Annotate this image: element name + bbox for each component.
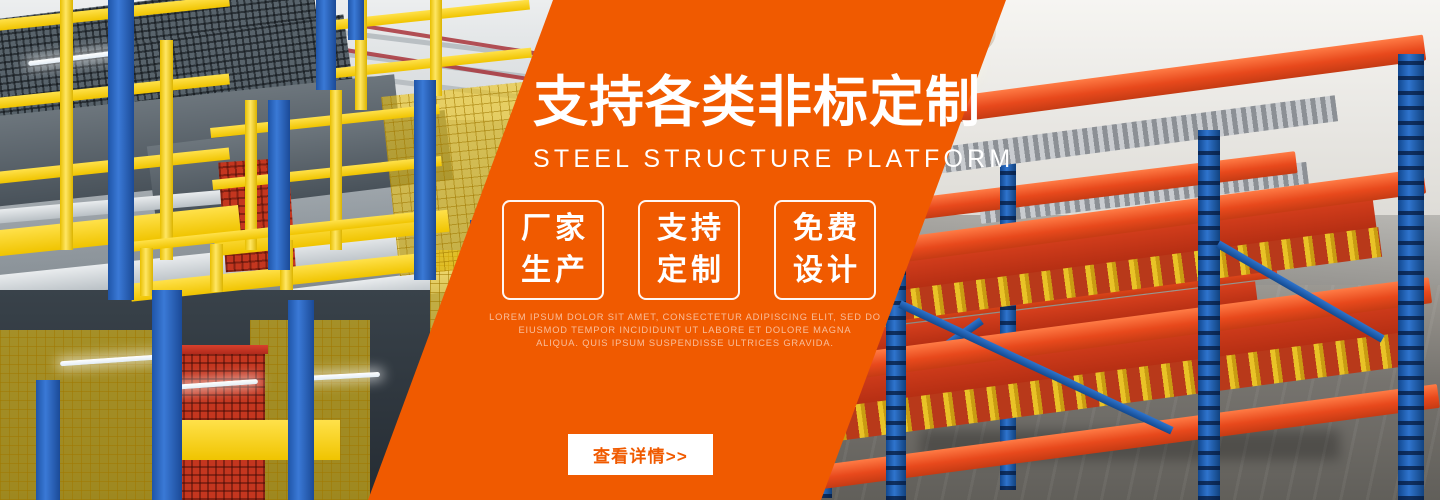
badge-line-1: 厂家	[517, 208, 589, 250]
feature-badge-free-design[interactable]: 免费 设计	[774, 200, 876, 300]
feature-badge-customization[interactable]: 支持 定制	[638, 200, 740, 300]
page-title: 支持各类非标定制	[533, 73, 963, 131]
promo-banner: 支持各类非标定制 STEEL STRUCTURE PLATFORM 厂家 生产 …	[0, 0, 1440, 500]
banner-content: 支持各类非标定制 STEEL STRUCTURE PLATFORM 厂家 生产 …	[0, 0, 1440, 500]
description-line-1: Lorem ipsum dolor sit amet, consectetur …	[485, 311, 885, 324]
badge-line-1: 免费	[789, 208, 861, 250]
badge-line-2: 生产	[517, 250, 589, 292]
feature-badge-group: 厂家 生产 支持 定制 免费 设计	[502, 200, 876, 300]
description-text: Lorem ipsum dolor sit amet, consectetur …	[485, 311, 885, 351]
badge-line-2: 定制	[653, 250, 725, 292]
badge-line-1: 支持	[653, 208, 725, 250]
badge-line-2: 设计	[789, 250, 861, 292]
description-line-3: aliqua. Quis ipsum suspendisse ultrices …	[485, 337, 885, 350]
description-line-2: eiusmod tempor incididunt ut labore et d…	[485, 324, 885, 337]
view-details-button[interactable]: 查看详情>>	[568, 434, 713, 475]
feature-badge-manufacturer[interactable]: 厂家 生产	[502, 200, 604, 300]
subtitle: STEEL STRUCTURE PLATFORM	[533, 145, 963, 173]
